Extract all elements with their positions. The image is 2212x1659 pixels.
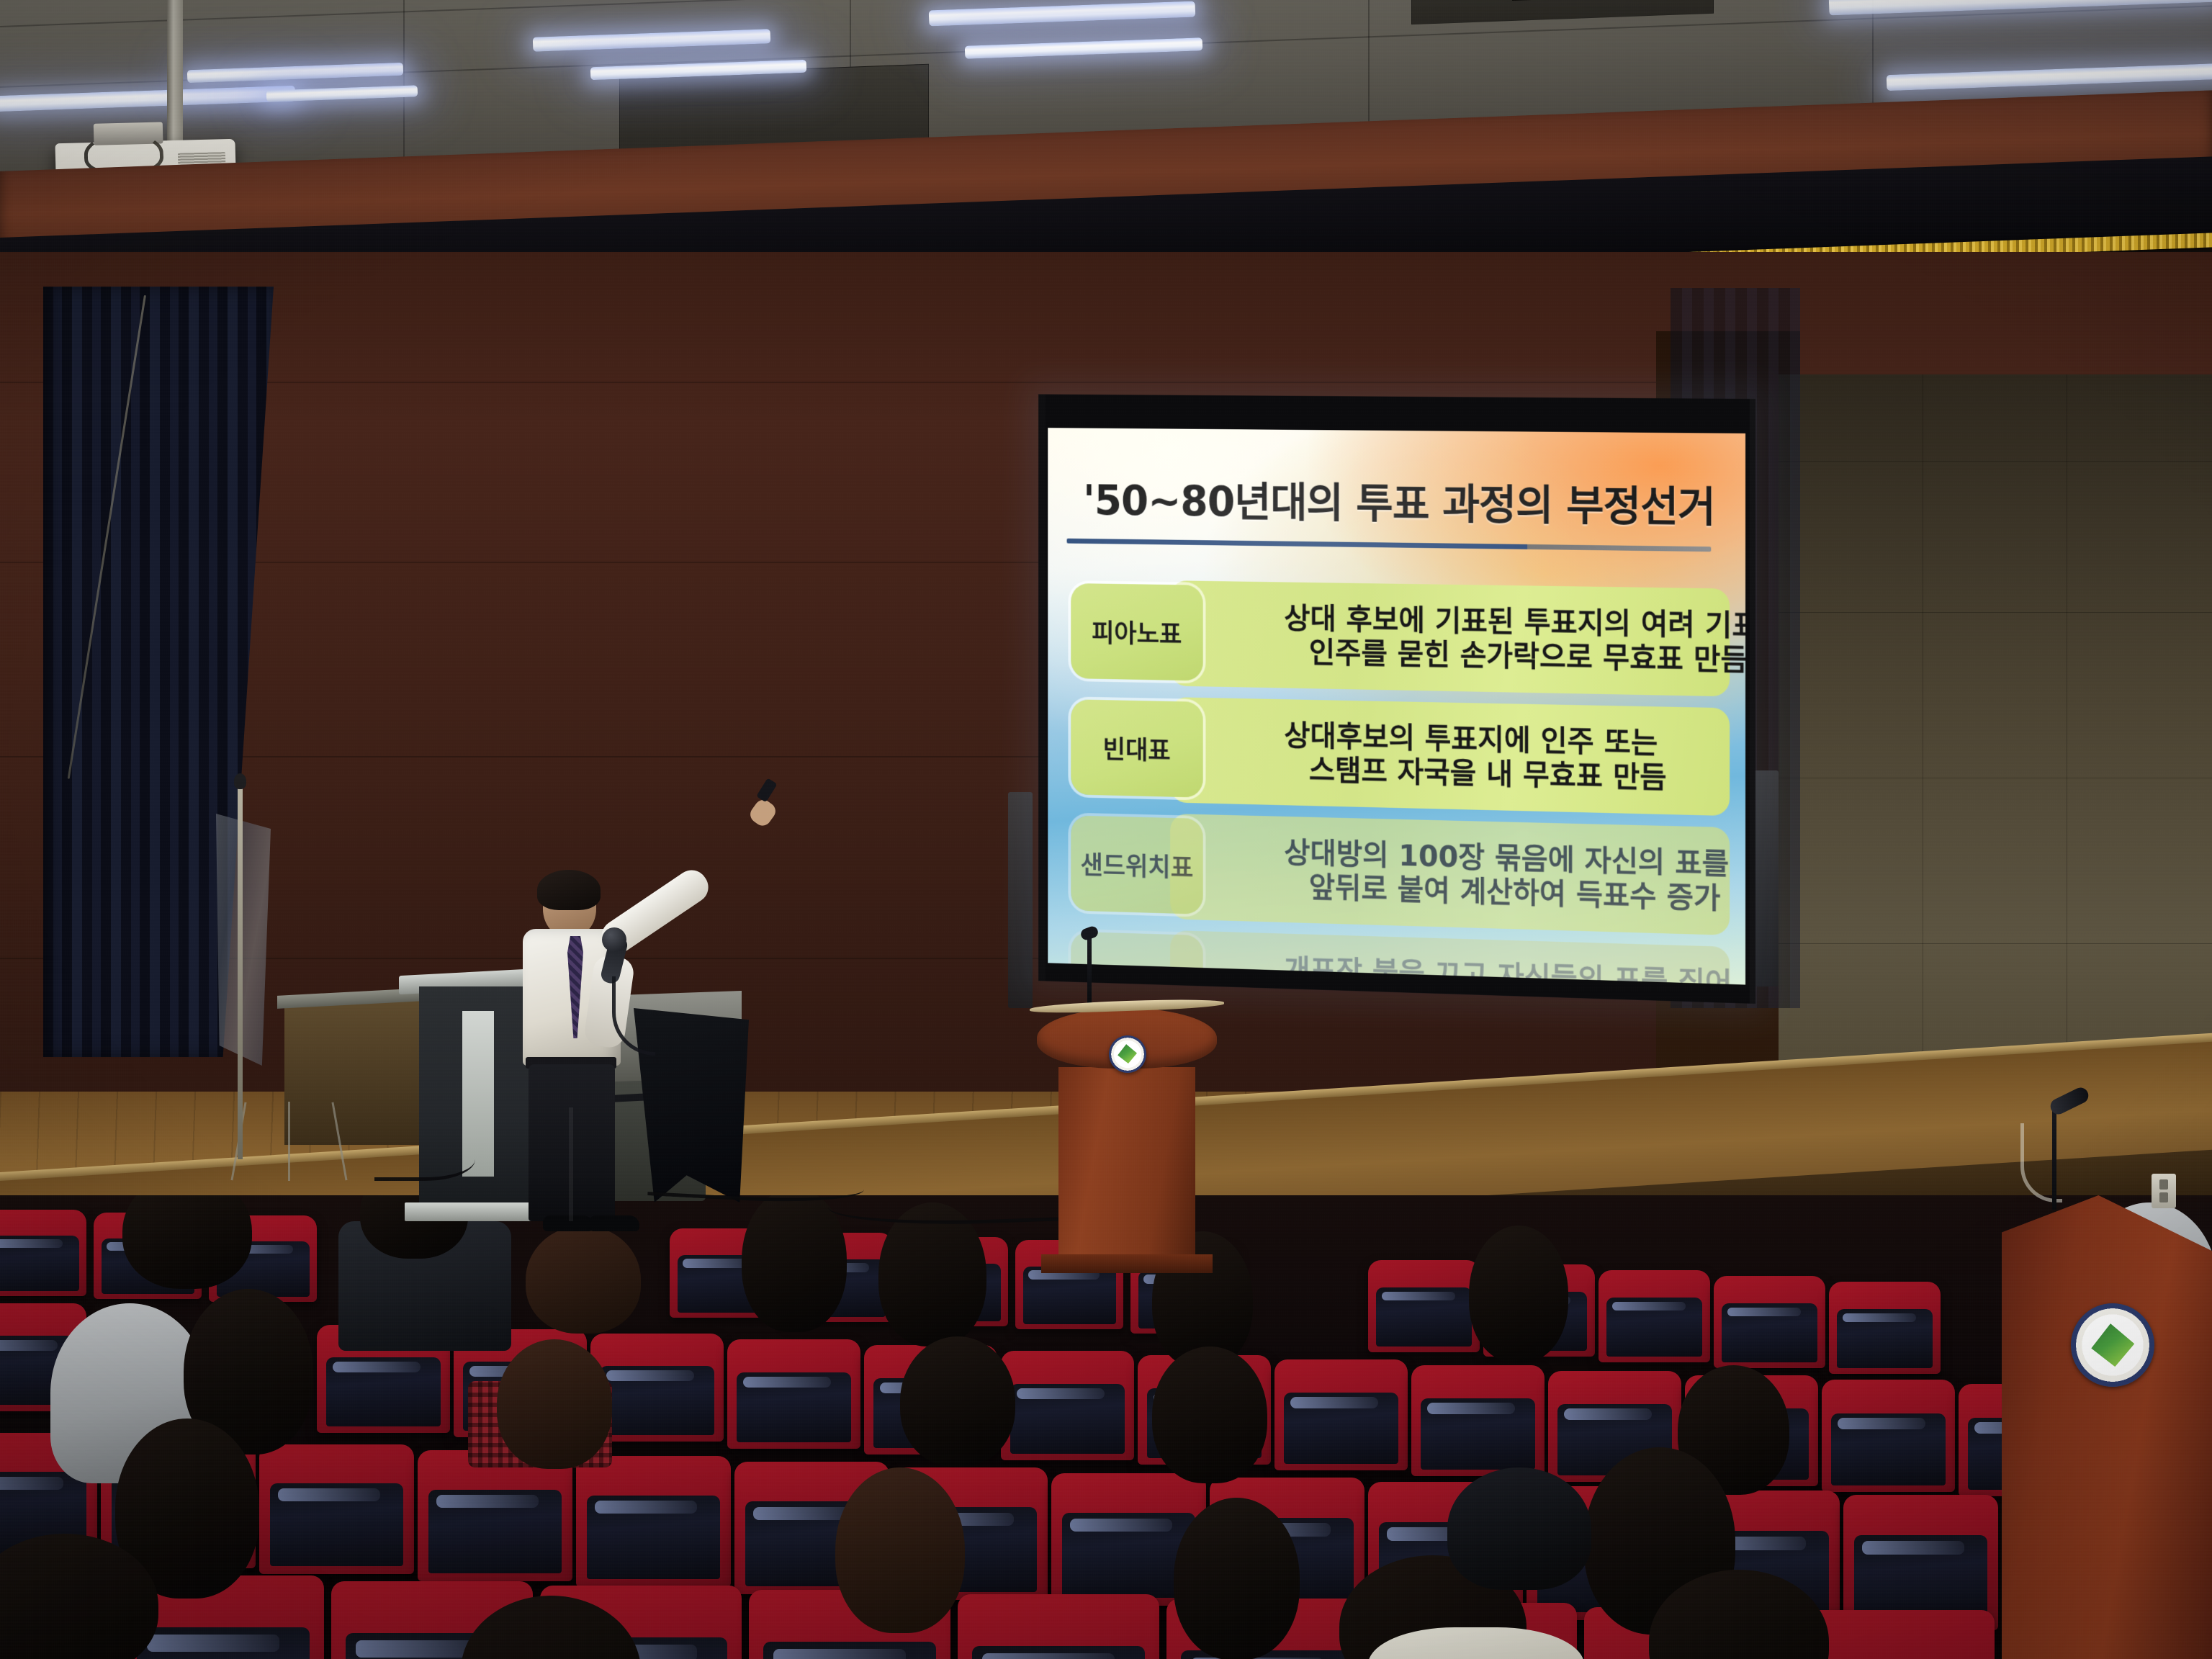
audience-head xyxy=(878,1202,986,1346)
audience-head xyxy=(497,1339,612,1469)
speaker-box-right xyxy=(1754,770,1779,986)
projector-mount-pole xyxy=(167,0,183,148)
slide-row: 상대 후보에 기표된 투표지의 여려 기표란에 인주를 묻힌 손가락으로 무효표… xyxy=(1048,579,1745,700)
emblem-leaf-icon xyxy=(2089,1321,2136,1369)
seat xyxy=(727,1339,860,1449)
presenter xyxy=(504,876,677,1236)
slide-row-label: 빈대표 xyxy=(1071,699,1202,797)
wall-outlet xyxy=(2152,1174,2176,1208)
audience-head xyxy=(1469,1226,1568,1362)
speaker-box-left xyxy=(1008,792,1033,1008)
floor-microphone-stand xyxy=(1087,936,1092,1004)
slide-row-label: 샌드위치표 xyxy=(1071,815,1202,914)
audience-head xyxy=(835,1467,965,1633)
audience-head xyxy=(1152,1346,1267,1483)
slide-row: 상대방의 100장 묶음에 자신의 표를 앞뒤로 붙여 계산하여 득표수 증가 … xyxy=(1048,811,1745,939)
slide-row-description: 상대 후보에 기표된 투표지의 여려 기표란에 인주를 묻힌 손가락으로 무효표… xyxy=(1170,580,1730,696)
seat xyxy=(1368,1260,1480,1352)
projection-screen: '50~80년대의 투표 과정의 부정선거 상대 후보에 기표된 투표지의 여려… xyxy=(1038,394,1755,1004)
audience-head xyxy=(526,1226,641,1334)
slide-row-line2: 인주를 묻힌 손가락으로 무효표 만듬 xyxy=(1309,636,1711,678)
seat xyxy=(259,1444,414,1574)
institutional-emblem xyxy=(2071,1303,2154,1387)
podium-head xyxy=(1037,1008,1217,1069)
seat xyxy=(418,1450,572,1581)
floor-cable xyxy=(374,1138,475,1181)
seat xyxy=(1001,1351,1134,1460)
institutional-emblem xyxy=(1109,1035,1146,1073)
auditorium-photo: '50~80년대의 투표 과정의 부정선거 상대 후보에 기표된 투표지의 여려… xyxy=(0,0,2212,1659)
seat xyxy=(1829,1282,1941,1374)
podium-column xyxy=(1058,1067,1195,1257)
presentation-slide: '50~80년대의 투표 과정의 부정선거 상대 후보에 기표된 투표지의 여려… xyxy=(1048,428,1745,984)
seat xyxy=(1411,1365,1545,1476)
presenter-trousers xyxy=(529,1064,615,1221)
slide-row-description: 상대후보의 투표지에 인주 또는 스탬프 자국을 내 무효표 만듬 xyxy=(1170,697,1730,816)
seat xyxy=(576,1456,731,1587)
audience-cap xyxy=(1447,1467,1591,1590)
audience-head xyxy=(900,1336,1015,1466)
tripod-stand xyxy=(238,1102,353,1181)
seat xyxy=(1274,1359,1408,1470)
audience-head xyxy=(742,1195,847,1332)
audience-head xyxy=(122,1195,252,1289)
seat xyxy=(0,1210,86,1296)
slide-rows: 상대 후보에 기표된 투표지의 여려 기표란에 인주를 묻힌 손가락으로 무효표… xyxy=(1048,579,1745,975)
slide-row-label: 피아노표 xyxy=(1071,583,1202,681)
flag-finial xyxy=(234,773,246,789)
seat xyxy=(958,1594,1159,1659)
seat xyxy=(1714,1276,1825,1368)
podium-base xyxy=(1041,1254,1213,1273)
wooden-podium xyxy=(1037,1001,1217,1274)
microphone-stand xyxy=(2052,1109,2056,1210)
slide-title: '50~80년대의 투표 과정의 부정선거 xyxy=(1083,467,1717,534)
slide-row: 상대후보의 투표지에 인주 또는 스탬프 자국을 내 무효표 만듬 빈대표 xyxy=(1048,695,1745,819)
seat xyxy=(1599,1270,1710,1362)
audience-head xyxy=(1174,1498,1300,1659)
slide-row-description: 상대방의 100장 묶음에 자신의 표를 앞뒤로 붙여 계산하여 득표수 증가 xyxy=(1170,814,1730,935)
flag-pole xyxy=(238,785,243,1159)
foreground-lectern xyxy=(2002,1195,2212,1659)
slide-title-underline xyxy=(1067,539,1712,552)
emblem-leaf-icon xyxy=(1117,1043,1138,1065)
microphone-capsule xyxy=(602,927,626,952)
ceiling-recess xyxy=(1411,0,1714,24)
presenter-shoe xyxy=(589,1215,639,1231)
flag xyxy=(216,814,271,1066)
seat xyxy=(1822,1380,1955,1492)
presenter-shoe xyxy=(543,1215,593,1231)
presenter-hair xyxy=(537,870,601,910)
